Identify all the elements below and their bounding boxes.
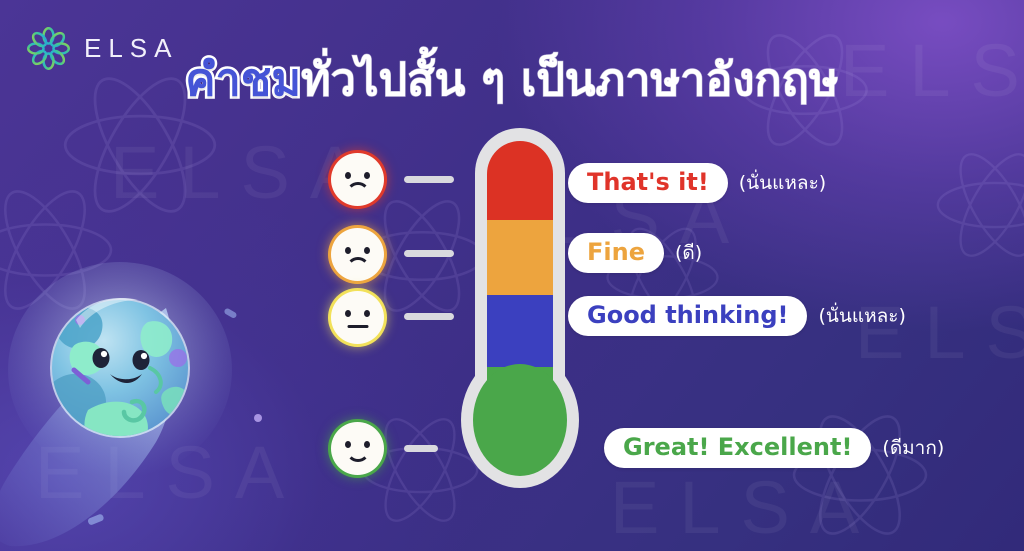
page-title: คำชมทั่วไปสั้น ๆ เป็นภาษาอังกฤษ <box>0 56 1024 105</box>
label-row-fine: Fine (ดี) <box>568 233 702 273</box>
sad-face-orange <box>331 228 384 281</box>
phrase-translation-great-excellent: (ดีมาก) <box>882 433 944 463</box>
label-row-thats-it: That's it! (นั่นแหละ) <box>568 163 826 203</box>
phrase-translation-good-thinking: (นั่นแหละ) <box>818 301 905 331</box>
connector-dash-2 <box>404 250 454 257</box>
thermometer-segment-blue <box>487 295 553 367</box>
face-mouth-sad <box>346 257 370 269</box>
sad-face-red <box>331 153 384 206</box>
label-row-good-thinking: Good thinking! (นั่นแหละ) <box>568 296 906 336</box>
face-eye-left <box>345 441 351 448</box>
title-highlight: คำชม <box>185 53 301 106</box>
face-eye-right <box>364 441 370 448</box>
phrase-pill-good-thinking[interactable]: Good thinking! <box>568 296 807 336</box>
phrase-pill-fine[interactable]: Fine <box>568 233 664 273</box>
phrase-pill-great-excellent[interactable]: Great! Excellent! <box>604 428 871 468</box>
face-eye-left <box>345 172 351 179</box>
thermometer-graphic <box>461 128 579 488</box>
atom-pattern-icon <box>930 140 1024 270</box>
infographic-canvas: ELSA ELSA ELSA ELSA ELSA ELSA <box>0 0 1024 551</box>
face-eye-left <box>345 247 351 254</box>
title-rest: ทั่วไปสั้น ๆ เป็นภาษาอังกฤษ <box>301 53 839 106</box>
label-row-great-excellent: Great! Excellent! (ดีมาก) <box>604 428 944 468</box>
watermark-elsa-bottom: ELSA <box>610 465 879 550</box>
connector-dash-3 <box>404 313 454 320</box>
face-mouth-sad <box>346 182 370 194</box>
face-mouth-neutral <box>347 325 368 328</box>
face-eye-right <box>364 172 370 179</box>
atom-pattern-icon <box>785 400 935 550</box>
connector-dash-4 <box>404 445 438 452</box>
elsa-earth-comet-mascot <box>0 250 290 550</box>
phrase-pill-thats-it[interactable]: That's it! <box>568 163 728 203</box>
face-mouth-happy <box>346 450 370 462</box>
thermometer-segment-red <box>487 141 553 220</box>
happy-face-green <box>331 422 384 475</box>
phrase-translation-thats-it: (นั่นแหละ) <box>739 168 826 198</box>
neutral-face-yellow <box>331 291 384 344</box>
thermometer-bulb-fill <box>473 364 567 476</box>
phrase-translation-fine: (ดี) <box>675 238 702 268</box>
thermometer-segment-orange <box>487 220 553 295</box>
face-eye-right <box>364 310 370 317</box>
face-eye-right <box>364 247 370 254</box>
face-eye-left <box>345 310 351 317</box>
connector-dash-1 <box>404 176 454 183</box>
